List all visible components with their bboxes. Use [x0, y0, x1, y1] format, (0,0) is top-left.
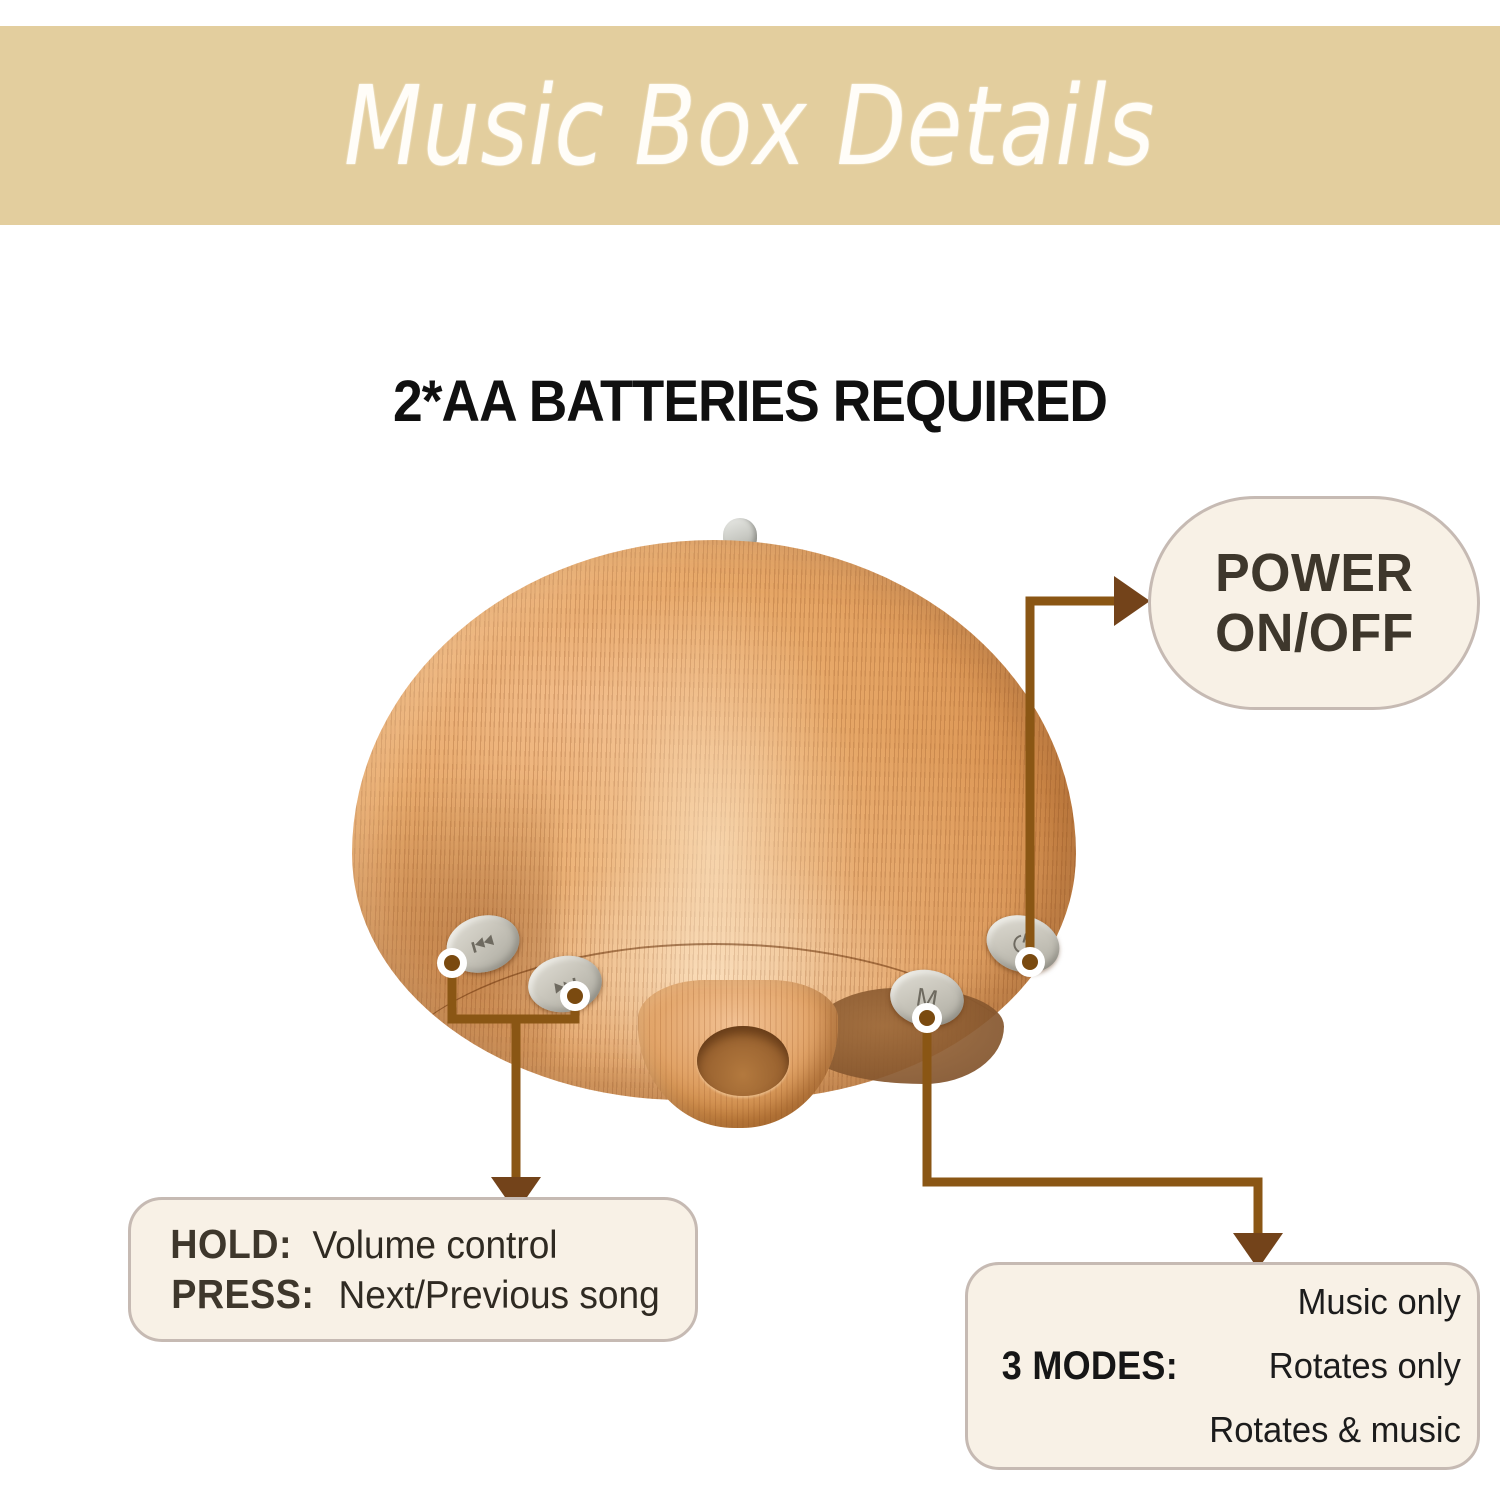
mode-item: Music only [1209, 1270, 1461, 1334]
mode-item: Rotates & music [1209, 1398, 1461, 1462]
foot-hole [697, 1026, 789, 1096]
skip-forward-icon: ⏭ [551, 969, 578, 998]
mode-m-icon: M [914, 983, 939, 1012]
page-title: Music Box Details [344, 62, 1155, 190]
modes-list: Music only Rotates only Rotates & music [1204, 1270, 1482, 1462]
press-key: PRESS: [171, 1270, 314, 1318]
skip-backward-icon: ⏮ [468, 928, 498, 959]
power-icon: ⏻ [1010, 929, 1037, 960]
power-arrowhead [1114, 576, 1150, 626]
power-label-line2: ON/OFF [1215, 603, 1414, 663]
modes-key: 3 MODES: [1002, 1344, 1178, 1389]
hold-value: Volume control [313, 1223, 558, 1269]
header-banner: Music Box Details [0, 26, 1500, 225]
hold-row: HOLD: Volume control [165, 1220, 695, 1269]
music-box-product-image: ⏮ ⏭ M ⏻ [352, 518, 1076, 1138]
callout-hold-press: HOLD: Volume control PRESS: Next/Previou… [128, 1197, 698, 1342]
press-row: PRESS: Next/Previous song [165, 1270, 695, 1319]
press-value: Next/Previous song [338, 1273, 659, 1319]
callout-three-modes: 3 MODES: Music only Rotates only Rotates… [965, 1262, 1480, 1470]
mode-item: Rotates only [1209, 1334, 1461, 1398]
battery-requirement-text: 2*AA BATTERIES REQUIRED [60, 368, 1440, 435]
hold-key: HOLD: [170, 1220, 292, 1268]
callout-power-onoff: POWER ON/OFF [1148, 496, 1480, 710]
power-label-line1: POWER [1215, 543, 1413, 603]
